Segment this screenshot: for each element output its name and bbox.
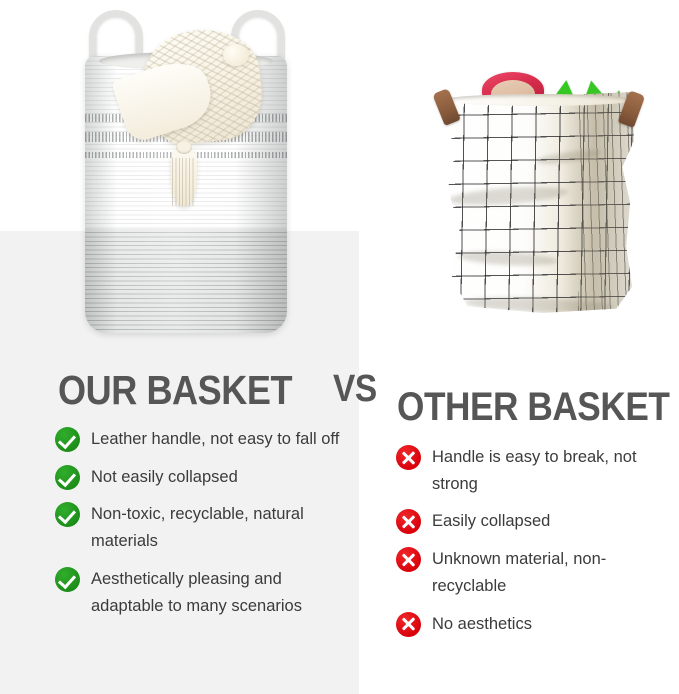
list-item: Handle is easy to break, not strong	[396, 444, 671, 497]
list-item-label: Leather handle, not easy to fall off	[91, 426, 339, 453]
grid-fabric-body	[440, 92, 636, 313]
list-item-label: Easily collapsed	[432, 508, 550, 535]
list-item-label: Aesthetically pleasing and adaptable to …	[91, 566, 345, 619]
list-item: Leather handle, not easy to fall off	[55, 426, 345, 453]
cross-circle-icon	[396, 509, 421, 534]
check-circle-icon	[55, 567, 80, 592]
list-item: Aesthetically pleasing and adaptable to …	[55, 566, 345, 619]
list-item: Non-toxic, recyclable, natural materials	[55, 501, 345, 554]
fabric-rim	[444, 94, 634, 106]
vs-label: VS	[333, 368, 377, 411]
list-item: Not easily collapsed	[55, 464, 345, 491]
list-item-label: Unknown material, non-recyclable	[432, 546, 671, 599]
our-basket-photo	[85, 8, 287, 333]
check-circle-icon	[55, 465, 80, 490]
list-item: Unknown material, non-recyclable	[396, 546, 671, 599]
list-item-label: Not easily collapsed	[91, 464, 238, 491]
check-circle-icon	[55, 502, 80, 527]
other-basket-heading: OTHER BASKET	[397, 385, 669, 430]
photo-area	[0, 0, 679, 360]
pros-list: Leather handle, not easy to fall off Not…	[55, 426, 345, 630]
check-circle-icon	[55, 427, 80, 452]
our-basket-heading: OUR BASKET	[58, 367, 292, 414]
list-item-label: No aesthetics	[432, 611, 532, 638]
other-basket-photo	[434, 68, 642, 313]
blanket-tassel	[171, 146, 197, 206]
list-item-label: Non-toxic, recyclable, natural materials	[91, 501, 345, 554]
pom-pom	[223, 44, 249, 66]
cons-list: Handle is easy to break, not strong Easi…	[396, 444, 671, 648]
cross-circle-icon	[396, 445, 421, 470]
list-item: No aesthetics	[396, 611, 671, 638]
list-item: Easily collapsed	[396, 508, 671, 535]
list-item-label: Handle is easy to break, not strong	[432, 444, 671, 497]
cross-circle-icon	[396, 547, 421, 572]
cross-circle-icon	[396, 612, 421, 637]
comparison-infographic: OUR BASKET VS OTHER BASKET Leather handl…	[0, 0, 679, 694]
